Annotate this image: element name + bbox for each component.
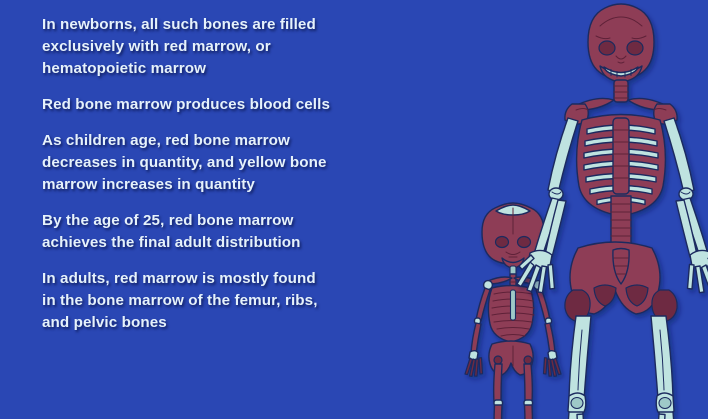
child-right-leg: [522, 364, 536, 419]
paragraph-newborns: In newborns, all such bones are filled e…: [42, 14, 432, 80]
adult-cervical-spine: [614, 80, 628, 102]
child-ribcage: [488, 286, 534, 343]
adult-skeleton: [517, 4, 708, 419]
adult-right-leg: [651, 316, 687, 419]
adult-skull: [588, 4, 654, 82]
child-right-arm: [536, 288, 561, 376]
paragraph-children-age: As children age, red bone marrow decreas…: [42, 130, 432, 196]
adult-pelvis: [565, 242, 677, 322]
skeleton-comparison-illustration: .rm { fill:#8e3e57; stroke:#1b2a5e; stro…: [430, 0, 708, 419]
paragraph-produces-blood-cells: Red bone marrow produces blood cells: [42, 94, 432, 116]
adult-right-arm: [664, 118, 708, 293]
adult-lumbar-spine: [611, 196, 631, 248]
adult-left-leg: [555, 316, 591, 419]
paragraph-age-25: By the age of 25, red bone marrow achiev…: [42, 210, 432, 254]
child-left-leg: [490, 364, 504, 419]
paragraph-adults: In adults, red marrow is mostly found in…: [42, 268, 432, 334]
slide-frame: In newborns, all such bones are filled e…: [0, 0, 708, 419]
text-column: In newborns, all such bones are filled e…: [42, 14, 432, 334]
child-left-arm: [465, 288, 490, 376]
